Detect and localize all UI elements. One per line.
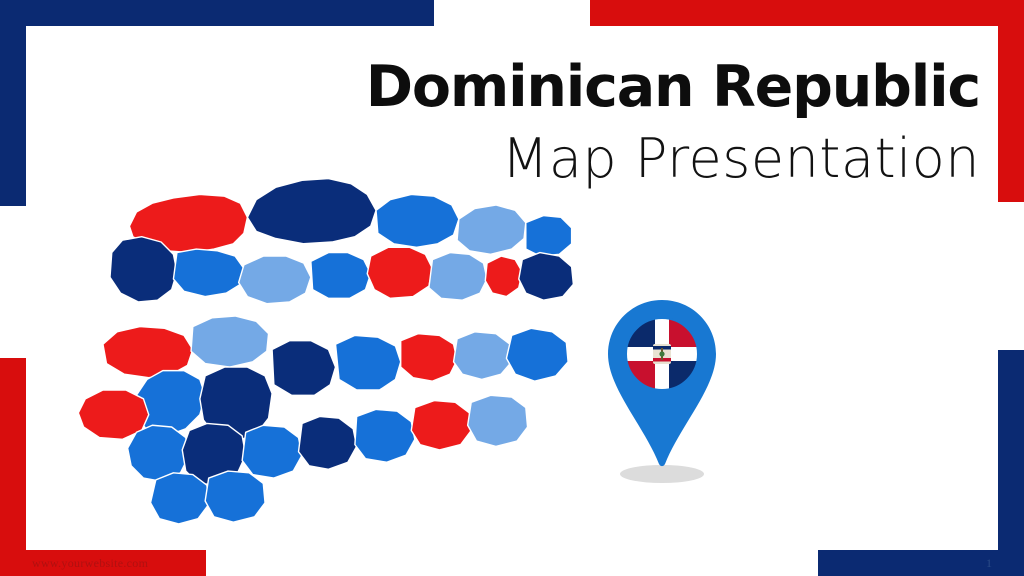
map-province[interactable] [506, 328, 568, 381]
frame-left-navy-bar [0, 0, 26, 206]
website-label[interactable]: www.yourwebsite.com [32, 556, 148, 571]
map-province[interactable] [457, 205, 526, 254]
map-province[interactable] [485, 256, 522, 297]
page-number: 1 [986, 556, 992, 571]
map-province[interactable] [355, 409, 415, 462]
map-svg [52, 168, 612, 538]
dominican-republic-map[interactable] [52, 168, 612, 538]
map-province[interactable] [401, 334, 457, 382]
map-pin-icon[interactable] [596, 296, 728, 488]
map-province[interactable] [468, 395, 528, 446]
map-pin-svg [596, 296, 728, 488]
page-title: Dominican Republic [300, 58, 980, 118]
province-layer [78, 179, 573, 524]
map-province[interactable] [272, 341, 335, 396]
pin-shadow [620, 465, 704, 483]
map-province[interactable] [173, 249, 243, 297]
frame-right-navy-bar [998, 350, 1024, 576]
presentation-slide: Dominican Republic Map Presentation [0, 0, 1024, 576]
map-province[interactable] [239, 256, 311, 304]
map-province[interactable] [205, 471, 265, 522]
frame-left-red-bar [0, 358, 26, 576]
map-province[interactable] [376, 194, 459, 247]
map-province[interactable] [429, 253, 487, 301]
coat-of-arms [653, 344, 671, 364]
map-province[interactable] [454, 332, 512, 380]
map-province[interactable] [299, 416, 357, 469]
map-province[interactable] [367, 247, 432, 298]
map-province[interactable] [136, 371, 205, 436]
map-province[interactable] [411, 401, 471, 450]
map-province[interactable] [519, 253, 574, 301]
map-province[interactable] [242, 425, 302, 478]
frame-top-navy-bar [0, 0, 434, 26]
map-province[interactable] [191, 316, 269, 367]
map-province[interactable] [247, 179, 376, 244]
frame-bottom-navy-bar [818, 550, 1024, 576]
frame-top-red-bar [590, 0, 1024, 26]
map-province[interactable] [336, 335, 401, 390]
map-province[interactable] [526, 216, 572, 257]
map-province[interactable] [151, 473, 209, 524]
frame-right-red-bar [998, 0, 1024, 202]
map-province[interactable] [311, 253, 371, 299]
